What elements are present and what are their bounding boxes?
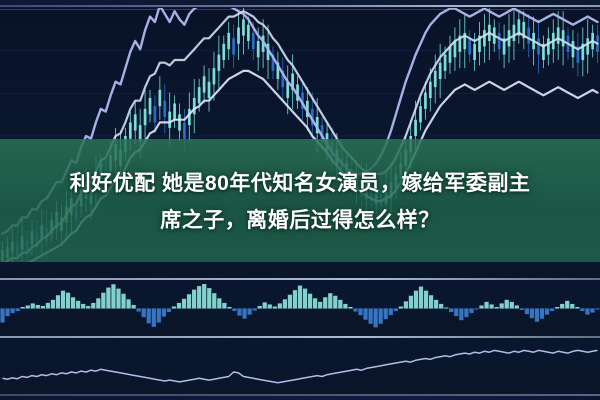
top-secondary-rule [0,9,600,10]
indicator-line-panel [0,339,600,394]
separator-macd-indicator [0,336,600,338]
headline-line-1: 利好优配 她是80年代知名女演员，嫁给军委副主 [0,165,600,202]
headline-text: 利好优配 她是80年代知名女演员，嫁给军委副主 席之子，离婚后过得怎么样？ [0,165,600,239]
macd-histogram-svg [0,281,600,336]
separator-price-macd [0,278,600,280]
bottom-strip [0,396,600,400]
indicator-line-svg [0,339,600,394]
macd-histogram-panel [0,281,600,336]
screenshot-root: 利好优配 她是80年代知名女演员，嫁给军委副主 席之子，离婚后过得怎么样？ [0,0,600,400]
top-highlight-rule [0,5,600,7]
headline-line-2: 席之子，离婚后过得怎么样？ [0,202,600,239]
